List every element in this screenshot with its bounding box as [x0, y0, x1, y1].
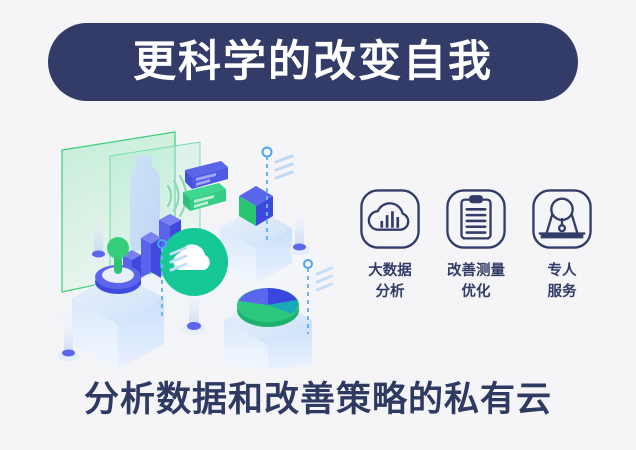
bottom-headline: 分析数据和改善策略的私有云	[0, 383, 636, 418]
header-banner: 更科学的改变自我	[48, 23, 578, 101]
promo-banner-page: 更科学的改变自我	[0, 0, 636, 450]
feature-label-line1: 专人	[548, 261, 577, 282]
pie-chart	[237, 288, 299, 327]
feature-list: 大数据 分析 改善测量 优化	[352, 188, 600, 303]
feature-label-line1: 改善测量	[447, 261, 505, 282]
feature-label-big-data: 大数据 分析	[368, 261, 412, 303]
feature-item-big-data[interactable]: 大数据 分析	[352, 188, 428, 303]
pin-marker-far-right	[289, 198, 311, 256]
feature-item-measurement[interactable]: 改善测量 优化	[438, 188, 514, 303]
feature-label-line2: 服务	[548, 282, 577, 303]
feature-label-measurement: 改善测量 优化	[447, 261, 505, 303]
feature-label-support: 专人 服务	[548, 261, 577, 303]
cloud-chart-icon	[359, 188, 421, 250]
isometric-illustration	[40, 120, 350, 370]
banner-title: 更科学的改变自我	[133, 41, 493, 84]
clipboard-icon	[445, 188, 507, 250]
feature-label-line1: 大数据	[368, 261, 412, 282]
feature-label-line2: 分析	[368, 282, 412, 303]
support-agent-icon	[531, 188, 593, 250]
feature-item-support[interactable]: 专人 服务	[524, 188, 600, 303]
feature-label-line2: 优化	[447, 282, 505, 303]
